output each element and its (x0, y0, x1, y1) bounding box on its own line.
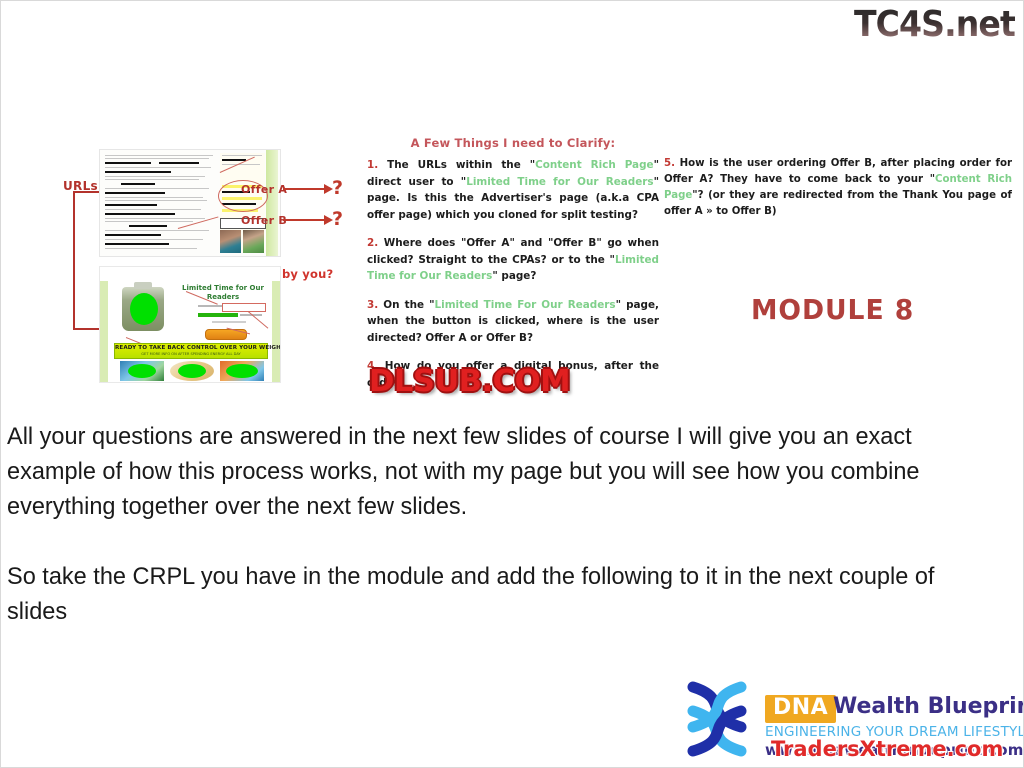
screenshot-collage: URLs (51, 141, 351, 386)
article-text-column (103, 153, 216, 253)
question-5-column: 5. How is the user ordering Offer B, aft… (664, 156, 1012, 232)
wealth-blueprint-text: Wealth Blueprint (833, 695, 1024, 719)
slide-canvas: TC4S.net URLs (0, 0, 1024, 768)
offer-a-arrow (283, 188, 325, 190)
testimonial-photo-1 (220, 230, 241, 253)
weight-banner-text: READY TO TAKE BACK CONTROL OVER YOUR WEI… (115, 345, 267, 351)
adv-green-edge-left (100, 281, 108, 382)
watermark-tradersxtreme: TradersXtreme.com (771, 737, 1003, 761)
offer-b-label: Offer B (241, 214, 287, 227)
question-1-green1: Content Rich Page (535, 159, 653, 171)
adv-green-edge-right (272, 281, 280, 382)
offer-b-question-mark: ? (332, 208, 343, 230)
green-mask-bar (198, 313, 238, 317)
question-item-5: 5. How is the user ordering Offer B, aft… (664, 156, 1012, 220)
green-mask-1 (128, 364, 156, 378)
question-number-1: 1. (367, 159, 378, 171)
dna-helix-icon (679, 681, 757, 757)
question-5-part2: "? (or they are redirected from the Than… (664, 190, 1012, 217)
dna-wealth-blueprint-logo: DNA Wealth Blueprint ENGINEERING YOUR DR… (679, 679, 1009, 763)
offer-a-question-mark: ? (332, 177, 343, 199)
testimonial-photo-2 (243, 230, 264, 253)
dna-badge: DNA (765, 695, 836, 723)
offer-a-label: Offer A (241, 183, 287, 196)
question-1-part1: The URLs within the " (378, 159, 535, 171)
dna-badge-text: DNA (773, 695, 828, 720)
screenshot-content-rich-page (99, 149, 281, 257)
slide-body-copy: All your questions are answered in the n… (7, 419, 967, 629)
question-number-2: 2. (367, 237, 378, 249)
question-item-1: 1. The URLs within the "Content Rich Pag… (367, 157, 659, 223)
question-3-part1: On the " (378, 299, 434, 311)
body-paragraph-2: So take the CRPL you have in the module … (7, 559, 967, 629)
weight-banner: READY TO TAKE BACK CONTROL OVER YOUR WEI… (114, 343, 268, 359)
clarify-heading: A Few Things I need to Clarify: (367, 136, 659, 150)
site-watermark-tc4s: TC4S.net (854, 5, 1015, 45)
question-3-green1: Limited Time For Our Readers (435, 299, 616, 311)
question-1-green2: Limited Time for Our Readers (466, 176, 653, 188)
question-item-2: 2. Where does "Offer A" and "Offer B" go… (367, 235, 659, 285)
module-label: MODULE 8 (751, 293, 914, 326)
screenshot-advertisers-copy: Limited Time for Our Readers READY TO TA… (99, 266, 281, 383)
advertiser-page-body: Limited Time for Our Readers READY TO TA… (100, 281, 280, 382)
discount-field-highlight (222, 303, 266, 312)
body-paragraph-1: All your questions are answered in the n… (7, 419, 967, 524)
urls-bracket-arrow (73, 191, 101, 330)
question-item-3: 3. On the "Limited Time For Our Readers"… (367, 297, 659, 347)
question-2-part2: " page? (492, 270, 536, 282)
green-mask-bottle (130, 293, 158, 325)
green-mask-3 (226, 364, 258, 378)
green-mask-2 (178, 364, 206, 378)
clarify-questions-column: A Few Things I need to Clarify: 1. The U… (367, 136, 659, 403)
page-green-edge (266, 150, 278, 256)
question-number-5: 5. (664, 158, 675, 169)
offer-b-arrow (283, 219, 325, 221)
watermark-dlsub: DLSUB.COM (369, 364, 570, 399)
question-number-3: 3. (367, 299, 378, 311)
weight-banner-subtext: GET MORE INFO ON AFTER SPENDING ENERGY A… (115, 352, 267, 356)
